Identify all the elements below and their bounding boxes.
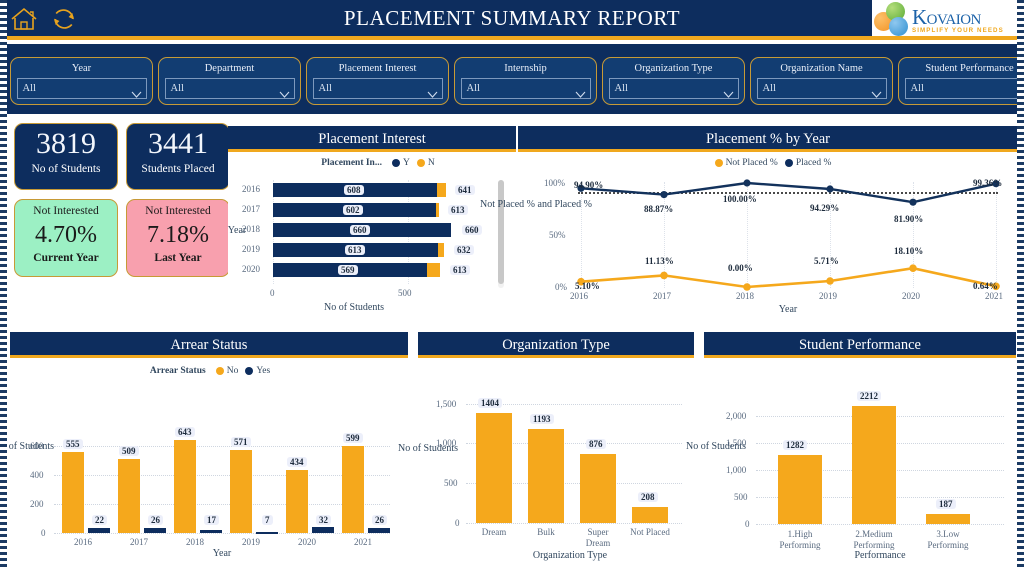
bar-yes[interactable] [200, 530, 222, 533]
filter-value: All [615, 83, 628, 94]
dashboard-page: PLACEMENT SUMMARY REPORT Kovaion SIMPLIF… [0, 0, 1024, 570]
filter-organization-name[interactable]: Organization Name All [750, 57, 893, 105]
header-gold-rule [0, 36, 1024, 40]
bar-medium-performing[interactable] [852, 406, 896, 524]
app-header: PLACEMENT SUMMARY REPORT Kovaion SIMPLIF… [0, 0, 1024, 40]
kpi-value: 4.70% [15, 219, 117, 251]
chevron-down-icon [723, 85, 734, 92]
y-tick-label: 500 [734, 492, 748, 502]
bar-value-label: 26 [148, 515, 163, 525]
bar-no[interactable] [230, 450, 252, 533]
filter-year[interactable]: Year All [10, 57, 153, 105]
bar-no[interactable] [342, 446, 364, 533]
page-left-edge [0, 0, 7, 570]
page-right-edge [1017, 0, 1024, 570]
point-label: 5.71% [814, 256, 839, 266]
kpi-value: 3441 [127, 126, 229, 162]
bar-value-label: 1404 [478, 398, 502, 408]
filter-label: Placement Interest [339, 61, 417, 76]
bar-value-label: 599 [343, 433, 363, 443]
card-placement-interest: Placement Interest Placement In... Y N Y… [228, 126, 516, 322]
chevron-down-icon [575, 85, 586, 92]
filter-value: All [319, 83, 332, 94]
card-title: Placement Interest [228, 126, 516, 152]
legend-swatch-icon [245, 367, 253, 375]
bar-bulk[interactable] [528, 429, 564, 523]
x-tick-label: 2019 [242, 537, 260, 547]
legend-swatch-icon [216, 367, 224, 375]
chart-arrear-status[interactable]: Arrear Status No Yes No of Students 600 … [10, 358, 408, 561]
legend-label: N [428, 158, 435, 168]
bar-value-label: 555 [63, 439, 83, 449]
bar-yes[interactable] [312, 527, 334, 533]
gridline [54, 446, 390, 447]
bar-value-label: 187 [936, 499, 956, 509]
card-title: Arrear Status [10, 332, 408, 358]
x-tick-label: 2016 [74, 537, 92, 547]
chart-placement-pct-by-year[interactable]: Not Placed % Placed % Not Placed % and P… [518, 152, 1018, 319]
bar-total-label: 613 [448, 205, 468, 215]
filter-placement-interest-dropdown[interactable]: All [313, 78, 443, 99]
bar-yes[interactable] [256, 532, 278, 534]
filter-organization-type[interactable]: Organization Type All [602, 57, 745, 105]
bar-value-label: 660 [350, 225, 370, 235]
x-tick-label: 2017 [130, 537, 148, 547]
x-tick-label: 2016 [570, 291, 588, 301]
filter-label: Year [72, 61, 91, 76]
y-tick-label: 2,000 [726, 411, 746, 421]
y-tick-label: 1,500 [436, 399, 456, 409]
point-label: 81.90% [894, 214, 923, 224]
filter-bar: Year All Department All Plac [0, 44, 1024, 114]
line-series-svg [518, 152, 1018, 319]
x-tick-label: Bulk [528, 527, 564, 537]
chevron-down-icon [871, 85, 882, 92]
bar-low-performing[interactable] [926, 514, 970, 524]
legend-label: Y [403, 158, 410, 168]
legend-title: Placement In... [321, 158, 382, 168]
legend-label: No [227, 366, 239, 376]
bar-no[interactable] [118, 459, 140, 533]
bar-yes[interactable] [144, 528, 166, 533]
y-axis-title: No of Students [0, 441, 54, 452]
filter-placement-interest[interactable]: Placement Interest All [306, 57, 449, 105]
point-label: 5.10% [575, 281, 600, 291]
point-label: 94.90% [574, 180, 603, 190]
kpi-not-interested-current-year[interactable]: Not Interested 4.70% Current Year [14, 199, 118, 277]
y-tick-label: 0 [745, 519, 750, 529]
filter-value: All [171, 83, 184, 94]
bar-value-label: 602 [343, 205, 363, 215]
filter-student-performance[interactable]: Student Performance All [898, 57, 1024, 105]
point-label: 0.00% [728, 263, 753, 273]
bar-segment-n[interactable] [427, 263, 440, 277]
logo-tagline: SIMPLIFY YOUR NEEDS [912, 27, 1004, 34]
bar-no[interactable] [62, 452, 84, 533]
x-tick-label: 2021 [354, 537, 372, 547]
x-tick-label: 2018 [186, 537, 204, 547]
chart-student-performance[interactable]: No of Students 2,000 1,500 1,000 500 0 1… [704, 358, 1016, 561]
logo-wordmark: Kovaion [912, 6, 1004, 28]
y-tick-label: 400 [30, 470, 44, 480]
x-tick-label: 3.Low Performing [920, 529, 976, 551]
y-tick-label: 0 [455, 518, 460, 528]
card-title: Organization Type [418, 332, 694, 358]
legend-item[interactable]: Yes [245, 366, 270, 376]
x-tick-label: 2.Medium Performing [846, 529, 902, 551]
y-tick-label: 1,000 [726, 465, 746, 475]
logo-circles-icon [872, 1, 914, 39]
kpi-caption: Not Interested [127, 203, 229, 219]
filter-department-dropdown[interactable]: All [165, 78, 295, 99]
bar-value-label: 571 [231, 437, 251, 447]
chart-legend: Arrear Status No Yes [120, 366, 300, 376]
bar-segment-n[interactable] [437, 183, 446, 197]
x-tick-label: 2021 [985, 291, 1003, 301]
legend-swatch-icon [392, 159, 400, 167]
filter-label: Organization Type [635, 61, 713, 76]
filter-organization-name-dropdown[interactable]: All [757, 78, 887, 99]
filter-label: Organization Name [780, 61, 862, 76]
legend-item[interactable]: Y [392, 158, 410, 168]
page-title: PLACEMENT SUMMARY REPORT [0, 0, 1024, 36]
kpi-period: Last Year [127, 251, 229, 266]
bar-no[interactable] [174, 440, 196, 533]
y-tick-label: 600 [30, 441, 44, 451]
bar-no[interactable] [286, 470, 308, 533]
point-label: 99.36% [973, 178, 1002, 188]
x-axis-title: Organization Type [458, 550, 682, 561]
y-tick-label: 2016 [242, 184, 260, 194]
y-tick-label: 1,000 [436, 438, 456, 448]
card-arrear-status: Arrear Status Arrear Status No Yes No of… [10, 332, 408, 564]
chevron-down-icon [427, 85, 438, 92]
bar-segment-n[interactable] [438, 243, 444, 257]
kpi-not-interested-last-year[interactable]: Not Interested 7.18% Last Year [126, 199, 230, 277]
x-tick-label: 2020 [902, 291, 920, 301]
chevron-down-icon [279, 85, 290, 92]
y-tick-label: 500 [444, 478, 458, 488]
bar-value-label: 569 [338, 265, 358, 275]
bar-value-label: 32 [316, 515, 331, 525]
y-tick-label: 200 [30, 499, 44, 509]
point-label: 88.87% [644, 204, 673, 214]
bar-value-label: 876 [586, 439, 606, 449]
filter-label: Department [205, 61, 255, 76]
bar-value-label: 7 [262, 515, 273, 525]
kpi-value: 7.18% [127, 219, 229, 251]
kpi-period: Current Year [15, 251, 117, 266]
filter-internship-dropdown[interactable]: All [461, 78, 591, 99]
bar-high-performing[interactable] [778, 455, 822, 524]
point-label: 94.29% [810, 203, 839, 213]
x-axis-title: Year [518, 304, 1024, 315]
dashboard-body: 3819 No of Students 3441 Students Placed… [0, 114, 1024, 570]
bar-value-label: 208 [638, 492, 658, 502]
filter-value: All [763, 83, 776, 94]
filter-year-dropdown[interactable]: All [17, 78, 147, 99]
bar-value-label: 613 [345, 245, 365, 255]
x-tick-label: 2018 [736, 291, 754, 301]
point-label: 11.13% [645, 256, 674, 266]
kpi-caption: Not Interested [15, 203, 117, 219]
bar-segment-n[interactable] [436, 203, 439, 217]
card-organization-type: Organization Type No of Students 1,500 1… [418, 332, 694, 564]
x-tick-label: Not Placed [630, 527, 670, 538]
x-tick-label: 1.High Performing [772, 529, 828, 551]
x-tick-label: Dream [476, 527, 512, 537]
card-placement-pct-by-year: Placement % by Year Not Placed % Placed … [518, 126, 1018, 322]
legend-title: Arrear Status [150, 366, 206, 376]
x-tick-label: 2019 [819, 291, 837, 301]
gridline [54, 504, 390, 505]
kpi-students-placed[interactable]: 3441 Students Placed [126, 123, 230, 190]
filter-value: All [23, 83, 36, 94]
bar-value-label: 434 [287, 457, 307, 467]
filter-value: All [467, 83, 480, 94]
gridline [756, 524, 1004, 525]
bar-yes[interactable] [368, 528, 390, 533]
x-axis-title: No of Students [228, 302, 480, 313]
legend-label: Yes [256, 366, 270, 376]
bar-total-label: 613 [450, 265, 470, 275]
bar-super-dream[interactable] [580, 454, 616, 523]
filter-label: Internship [504, 61, 547, 76]
point-label: 0.64% [973, 281, 998, 291]
card-title: Placement % by Year [518, 126, 1018, 152]
bar-value-label: 17 [204, 515, 219, 525]
filter-label: Student Performance [925, 61, 1013, 76]
x-tick-label: 500 [398, 288, 412, 298]
bar-value-label: 22 [92, 515, 107, 525]
gridline [54, 475, 390, 476]
chart-legend: Placement In... Y N [278, 158, 478, 168]
legend-item[interactable]: N [417, 158, 435, 168]
bar-total-label: 641 [455, 185, 475, 195]
chevron-down-icon [131, 85, 142, 92]
kpi-value: 3819 [15, 126, 117, 162]
filter-student-performance-dropdown[interactable]: All [905, 78, 1024, 99]
filter-value: All [911, 83, 924, 94]
card-student-performance: Student Performance No of Students 2,000… [704, 332, 1016, 564]
filter-department[interactable]: Department All [158, 57, 301, 105]
y-tick-label: 2019 [242, 244, 260, 254]
kpi-label: Students Placed [127, 162, 229, 176]
bar-value-label: 2212 [857, 391, 881, 401]
legend-swatch-icon [417, 159, 425, 167]
y-tick-label: 2020 [242, 264, 260, 274]
y-tick-label: 2018 [242, 224, 260, 234]
chart-organization-type[interactable]: No of Students 1,500 1,000 500 0 1404 11… [418, 358, 694, 561]
bar-value-label: 1193 [530, 414, 554, 424]
bar-value-label: 26 [372, 515, 387, 525]
y-tick-label: 0 [41, 528, 46, 538]
point-label: 100.00% [723, 194, 757, 204]
x-tick-label: 2020 [298, 537, 316, 547]
x-axis-title: Performance [756, 550, 1004, 561]
filter-internship[interactable]: Internship All [454, 57, 597, 105]
bar-dream[interactable] [476, 413, 512, 523]
bar-yes[interactable] [88, 528, 110, 533]
kpi-group: 3819 No of Students 3441 Students Placed… [14, 123, 230, 277]
legend-item[interactable]: No [216, 366, 239, 376]
x-axis-title: Year [50, 548, 394, 559]
y-tick-label: 1,500 [726, 438, 746, 448]
bar-value-label: 608 [344, 185, 364, 195]
bar-value-label: 509 [119, 446, 139, 456]
bar-value-label: 643 [175, 427, 195, 437]
bar-not-placed[interactable] [632, 507, 668, 523]
gridline [466, 523, 682, 524]
chart-placement-interest[interactable]: Placement In... Y N Year 2016 201 [228, 152, 516, 319]
x-tick-label: 2017 [653, 291, 671, 301]
y-tick-label: 2017 [242, 204, 260, 214]
bar-total-label: 660 [462, 225, 482, 235]
kpi-label: No of Students [15, 162, 117, 176]
brand-logo: Kovaion SIMPLIFY YOUR NEEDS [872, 0, 1024, 40]
bar-total-label: 632 [454, 245, 474, 255]
x-tick-label: 0 [270, 288, 275, 298]
bar-value-label: 1282 [783, 440, 807, 450]
point-label: 18.10% [894, 246, 923, 256]
x-tick-label: Super Dream [578, 527, 618, 549]
filter-organization-type-dropdown[interactable]: All [609, 78, 739, 99]
gridline [54, 533, 390, 534]
card-title: Student Performance [704, 332, 1016, 358]
kpi-no-of-students[interactable]: 3819 No of Students [14, 123, 118, 190]
